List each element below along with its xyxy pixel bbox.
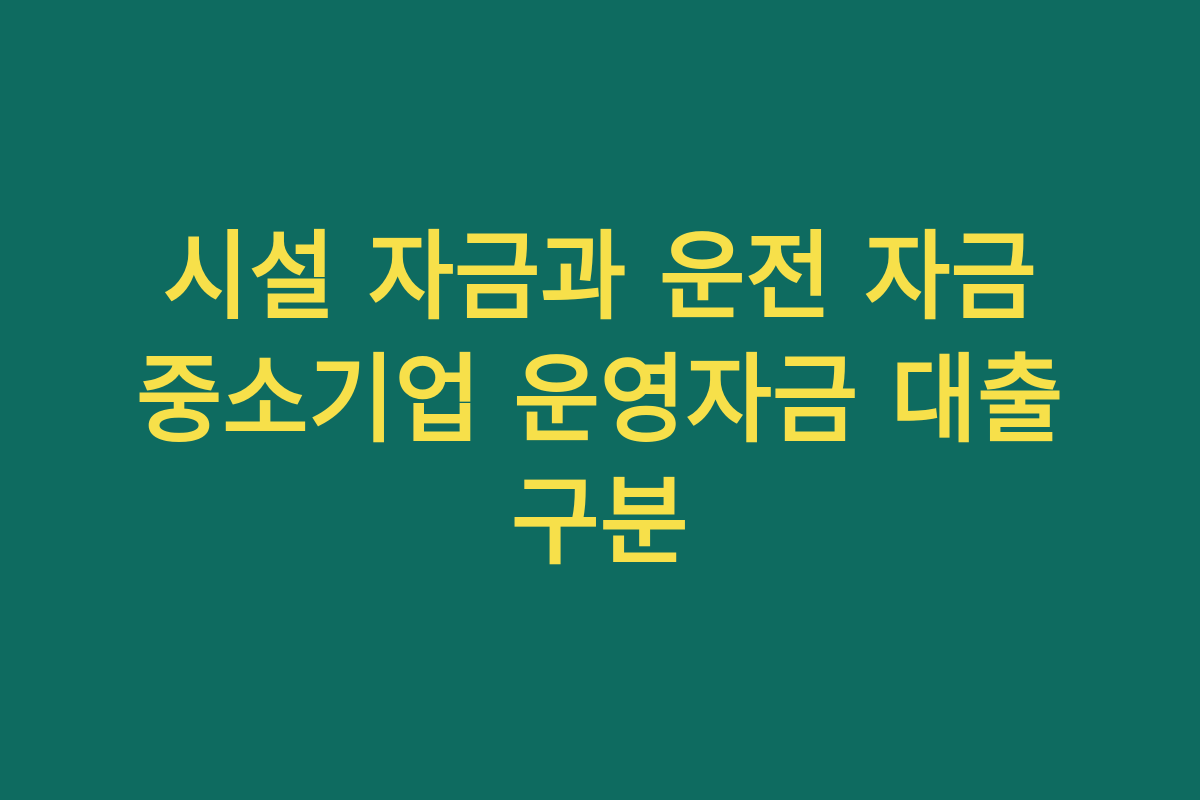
headline-line-3: 구분 [50,461,1150,584]
headline-line-1: 시설 자금과 운전 자금 [67,216,1134,339]
headline-line-2: 중소기업 운영자금 대출 [67,339,1134,462]
banner-canvas: 시설 자금과 운전 자금 중소기업 운영자금 대출 구분 [0,0,1200,800]
headline-block: 시설 자금과 운전 자금 중소기업 운영자금 대출 구분 [50,216,1150,585]
